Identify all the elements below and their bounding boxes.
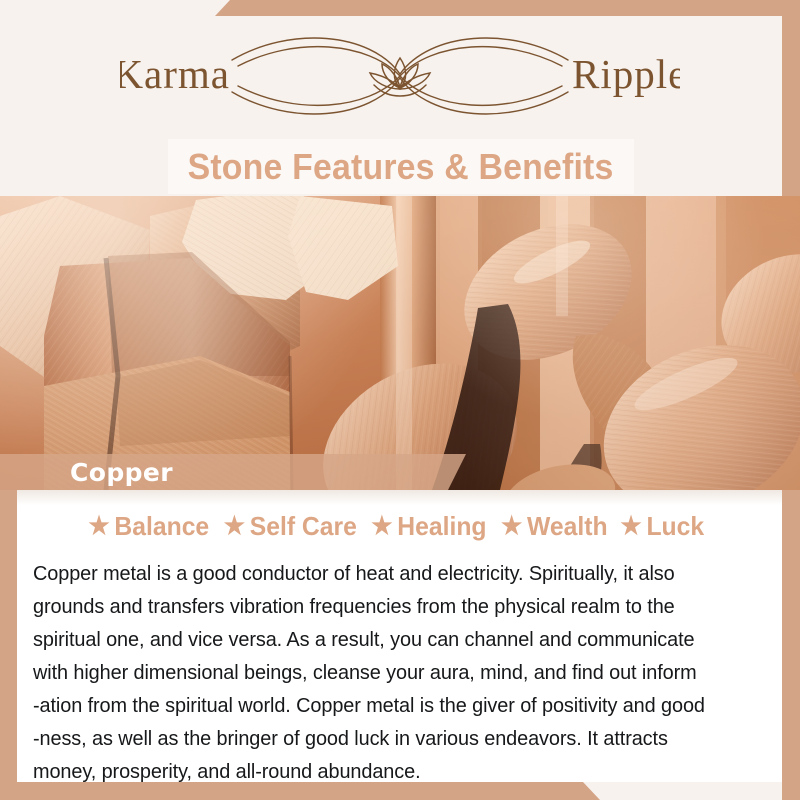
description-line: with higher dimensional beings, cleanse … xyxy=(33,656,746,689)
star-icon: ★ xyxy=(224,514,245,539)
frame-bottom-accent-bar xyxy=(0,782,600,800)
benefit-item: ★ Balance xyxy=(88,511,216,542)
brand-logo-svg: Karma Ripple xyxy=(120,28,680,124)
star-icon: ★ xyxy=(88,514,109,539)
description-line: Copper metal is a good conductor of heat… xyxy=(33,557,746,590)
content-top-fade xyxy=(17,490,782,505)
benefit-label: Healing xyxy=(398,511,487,542)
copper-bars-illustration xyxy=(0,196,800,490)
benefit-item: ★ Healing xyxy=(372,511,495,542)
description-line: -ness, as well as the bringer of good lu… xyxy=(33,722,746,755)
benefit-label: Wealth xyxy=(527,511,608,542)
poster-root: Karma Ripple Stone Features & Benefits xyxy=(0,0,800,800)
benefit-item: ★ Wealth xyxy=(501,511,615,542)
copper-bars-photo: Copper xyxy=(0,196,800,490)
star-icon: ★ xyxy=(501,514,522,539)
star-icon: ★ xyxy=(620,514,641,539)
benefits-row: ★ Balance ★ Self Care ★ Healing ★ Wealth… xyxy=(17,505,782,547)
description-line: spiritual one, and vice versa. As a resu… xyxy=(33,623,746,656)
star-icon: ★ xyxy=(372,514,393,539)
logo-flourish-icon xyxy=(232,38,568,114)
benefit-label: Self Care xyxy=(250,511,357,542)
description-panel: Copper metal is a good conductor of heat… xyxy=(17,547,782,782)
frame-left-accent-bar xyxy=(0,490,17,800)
section-title-banner: Stone Features & Benefits xyxy=(168,139,634,194)
stone-name: Copper xyxy=(70,458,173,487)
brand-name-left: Karma xyxy=(120,51,230,97)
benefit-label: Balance xyxy=(114,511,209,542)
benefit-item: ★ Luck xyxy=(620,511,711,542)
brand-logo: Karma Ripple xyxy=(0,26,800,126)
description-line: -ation from the spiritual world. Copper … xyxy=(33,689,746,722)
benefit-item: ★ Self Care xyxy=(224,511,365,542)
description-line: grounds and transfers vibration frequenc… xyxy=(33,590,746,623)
photo-caption-band: Copper xyxy=(0,454,466,490)
brand-name-right: Ripple xyxy=(572,51,680,97)
frame-top-accent-bar xyxy=(215,0,800,16)
benefit-label: Luck xyxy=(646,511,704,542)
page-title: Stone Features & Benefits xyxy=(188,146,614,188)
